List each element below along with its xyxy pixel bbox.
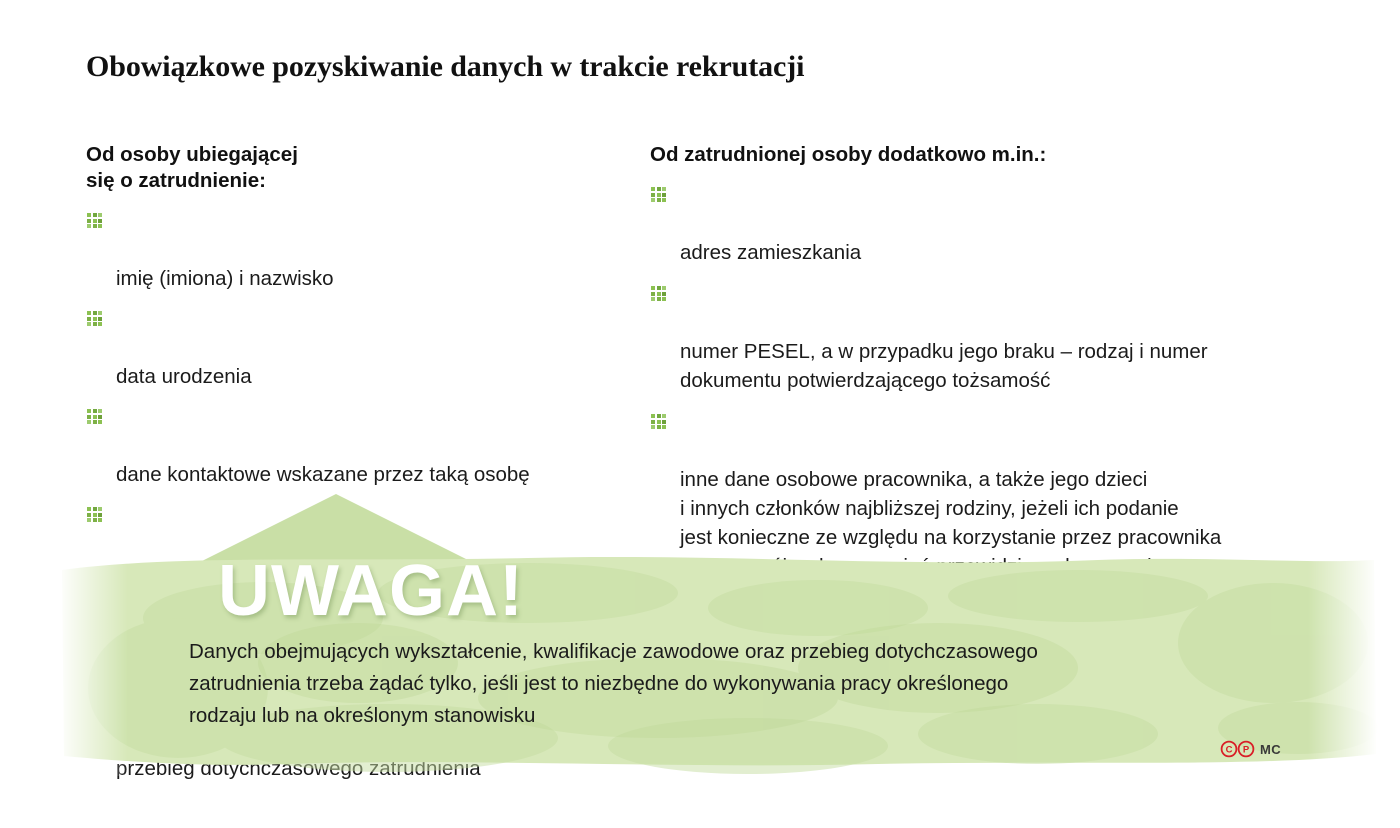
grid-squares-bullet-icon — [651, 286, 666, 301]
grid-squares-bullet-icon — [651, 187, 666, 202]
column-employee-heading: Od zatrudnionej osoby dodatkowo m.in.: — [650, 142, 1370, 168]
grid-squares-bullet-icon — [87, 311, 102, 326]
page-title: Obowiązkowe pozyskiwanie danych w trakci… — [86, 50, 804, 84]
credit-mark: C P MC — [1220, 740, 1281, 758]
svg-text:P: P — [1243, 745, 1250, 756]
grid-squares-bullet-icon — [87, 213, 102, 228]
list-item-label: dane kontaktowe wskazane przez taką osob… — [116, 463, 530, 486]
column-applicant-heading: Od osoby ubiegającej się o zatrudnienie: — [86, 142, 646, 194]
warning-label: UWAGA! — [218, 552, 524, 630]
list-item: dane kontaktowe wskazane przez taką osob… — [86, 402, 646, 489]
list-item: data urodzenia — [86, 304, 646, 391]
author-initials: MC — [1260, 742, 1281, 757]
grid-squares-bullet-icon — [651, 414, 666, 429]
warning-note: Danych obejmujących wykształcenie, kwali… — [189, 636, 1319, 732]
list-item: adres zamieszkania — [650, 180, 1370, 267]
svg-text:C: C — [1226, 745, 1233, 756]
list-item-label: imię (imiona) i nazwisko — [116, 267, 334, 290]
copyright-published-icon: C P — [1220, 740, 1256, 758]
list-item: numer PESEL, a w przypadku jego braku – … — [650, 279, 1370, 395]
list-item-label: adres zamieszkania — [680, 241, 861, 264]
grid-squares-bullet-icon — [87, 507, 102, 522]
list-item-label: data urodzenia — [116, 365, 252, 388]
list-item-label: numer PESEL, a w przypadku jego braku – … — [680, 340, 1208, 392]
list-item: imię (imiona) i nazwisko — [86, 206, 646, 293]
grid-squares-bullet-icon — [87, 409, 102, 424]
warning-banner: UWAGA! Danych obejmujących wykształcenie… — [58, 548, 1378, 776]
